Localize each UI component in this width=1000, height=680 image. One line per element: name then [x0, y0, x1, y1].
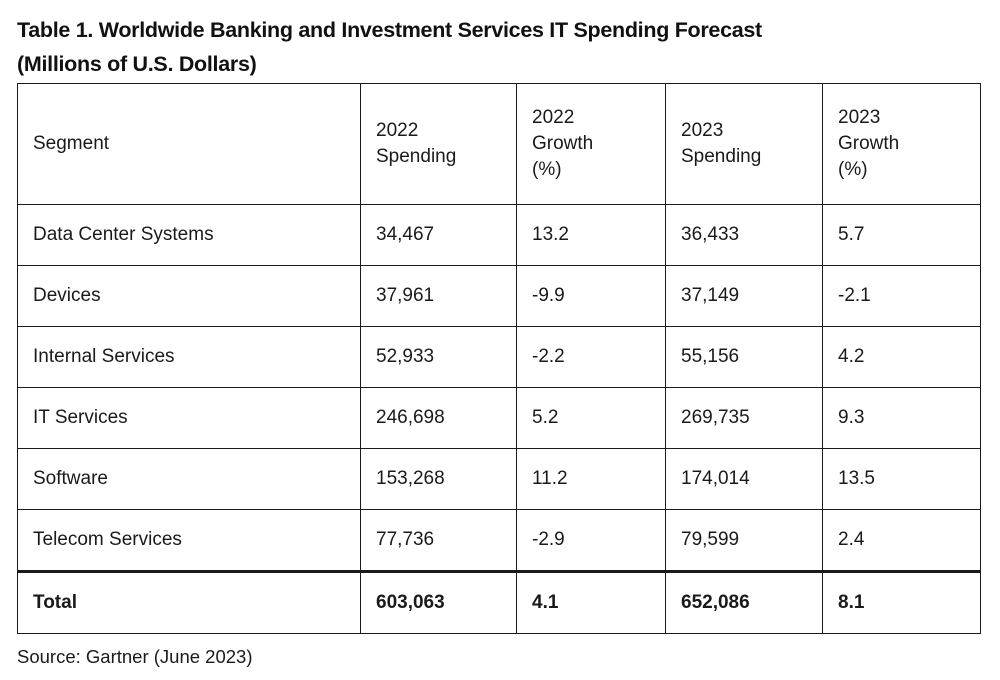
cell-spending-2023: 79,599: [666, 510, 823, 572]
column-header-growth-2022: 2022 Growth (%): [517, 84, 666, 205]
cell-spending-2022: 153,268: [361, 449, 517, 510]
cell-segment: Software: [18, 449, 361, 510]
column-header-spending-2022: 2022 Spending: [361, 84, 517, 205]
cell-total-spending-2023: 652,086: [666, 572, 823, 634]
cell-growth-2023: 5.7: [823, 205, 981, 266]
cell-total-growth-2022: 4.1: [517, 572, 666, 634]
cell-spending-2022: 77,736: [361, 510, 517, 572]
cell-growth-2023: 2.4: [823, 510, 981, 572]
cell-spending-2023: 55,156: [666, 327, 823, 388]
column-header-spending-2023-line2: Spending: [681, 144, 822, 170]
column-header-segment: Segment: [18, 84, 361, 205]
cell-segment: Devices: [18, 266, 361, 327]
cell-growth-2022: 11.2: [517, 449, 666, 510]
column-header-growth-2022-line1: 2022: [532, 105, 665, 131]
cell-total-growth-2023: 8.1: [823, 572, 981, 634]
cell-segment: IT Services: [18, 388, 361, 449]
table-row: Telecom Services 77,736 -2.9 79,599 2.4: [18, 510, 981, 572]
column-header-growth-2023-line1: 2023: [838, 105, 980, 131]
table-header-row: Segment 2022 Spending 2022 Growth (%) 20…: [18, 84, 981, 205]
title-line-1: Table 1. Worldwide Banking and Investmen…: [17, 13, 967, 47]
cell-growth-2023: 13.5: [823, 449, 981, 510]
cell-growth-2023: -2.1: [823, 266, 981, 327]
column-header-growth-2023: 2023 Growth (%): [823, 84, 981, 205]
table-total-row: Total 603,063 4.1 652,086 8.1: [18, 572, 981, 634]
column-header-spending-2023: 2023 Spending: [666, 84, 823, 205]
column-header-growth-2022-line2: Growth: [532, 131, 665, 157]
page-title: Table 1. Worldwide Banking and Investmen…: [17, 13, 967, 81]
cell-segment: Telecom Services: [18, 510, 361, 572]
cell-growth-2023: 4.2: [823, 327, 981, 388]
cell-spending-2022: 34,467: [361, 205, 517, 266]
column-header-segment-line1: Segment: [33, 131, 360, 157]
cell-growth-2022: 5.2: [517, 388, 666, 449]
cell-growth-2023: 9.3: [823, 388, 981, 449]
table-header: Segment 2022 Spending 2022 Growth (%) 20…: [18, 84, 981, 205]
table-body: Data Center Systems 34,467 13.2 36,433 5…: [18, 205, 981, 634]
table-row: Devices 37,961 -9.9 37,149 -2.1: [18, 266, 981, 327]
table-row: Data Center Systems 34,467 13.2 36,433 5…: [18, 205, 981, 266]
cell-total-spending-2022: 603,063: [361, 572, 517, 634]
table-row: IT Services 246,698 5.2 269,735 9.3: [18, 388, 981, 449]
cell-spending-2023: 269,735: [666, 388, 823, 449]
cell-spending-2022: 52,933: [361, 327, 517, 388]
column-header-spending-2022-line2: Spending: [376, 144, 516, 170]
cell-spending-2022: 246,698: [361, 388, 517, 449]
cell-growth-2022: -2.9: [517, 510, 666, 572]
table-row: Internal Services 52,933 -2.2 55,156 4.2: [18, 327, 981, 388]
column-header-spending-2022-line1: 2022: [376, 118, 516, 144]
forecast-table: Segment 2022 Spending 2022 Growth (%) 20…: [17, 83, 981, 634]
cell-spending-2023: 174,014: [666, 449, 823, 510]
cell-segment: Internal Services: [18, 327, 361, 388]
cell-growth-2022: 13.2: [517, 205, 666, 266]
cell-spending-2023: 37,149: [666, 266, 823, 327]
table-page: Table 1. Worldwide Banking and Investmen…: [0, 0, 1000, 680]
column-header-growth-2022-line3: (%): [532, 157, 665, 183]
cell-growth-2022: -2.2: [517, 327, 666, 388]
table-row: Software 153,268 11.2 174,014 13.5: [18, 449, 981, 510]
column-header-growth-2023-line3: (%): [838, 157, 980, 183]
column-header-growth-2023-line2: Growth: [838, 131, 980, 157]
cell-segment: Data Center Systems: [18, 205, 361, 266]
cell-spending-2023: 36,433: [666, 205, 823, 266]
source-note: Source: Gartner (June 2023): [17, 646, 253, 668]
cell-growth-2022: -9.9: [517, 266, 666, 327]
cell-total-label: Total: [18, 572, 361, 634]
cell-spending-2022: 37,961: [361, 266, 517, 327]
forecast-table-container: Segment 2022 Spending 2022 Growth (%) 20…: [17, 83, 980, 634]
title-line-2: (Millions of U.S. Dollars): [17, 47, 967, 81]
column-header-spending-2023-line1: 2023: [681, 118, 822, 144]
